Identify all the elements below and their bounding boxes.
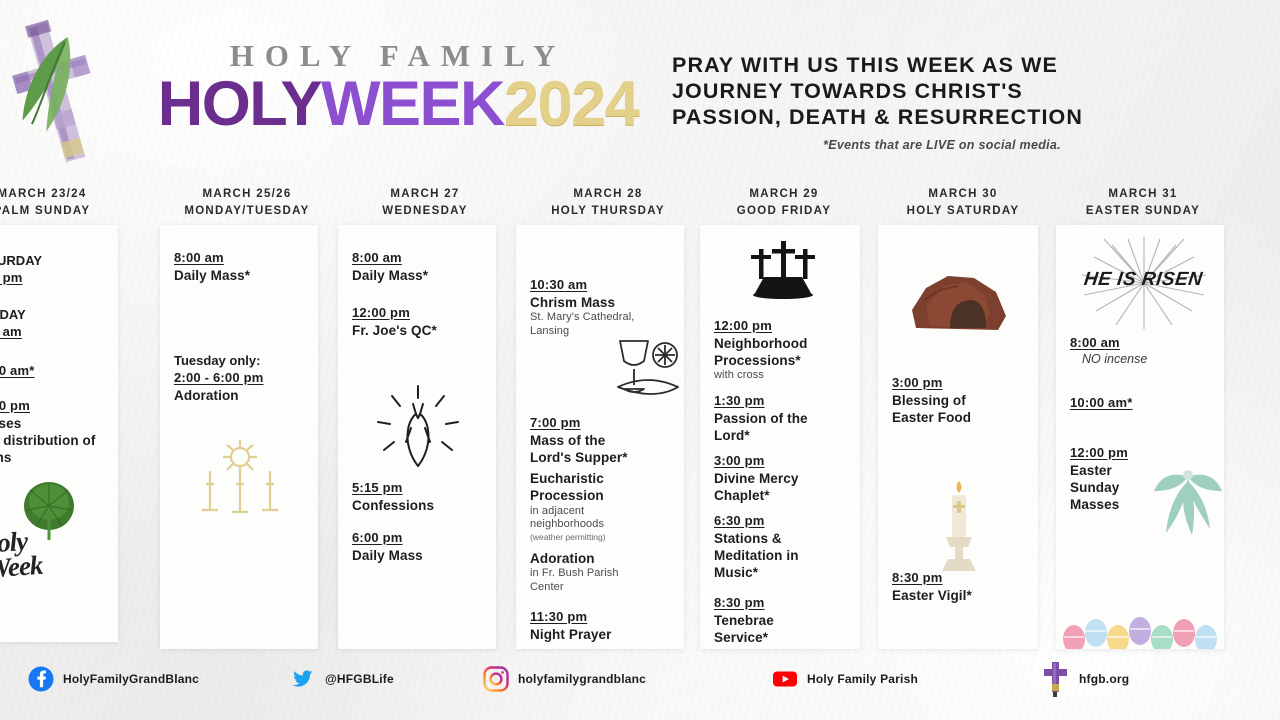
card-easter-sunday[interactable]: HE IS RISEN 8:00 am NO incense 10:00 am*… — [1056, 225, 1224, 649]
col-head-5: MARCH 30 HOLY SATURDAY — [880, 186, 1046, 219]
block-title: Chrism Mass — [530, 294, 676, 311]
block-title: Adoration — [530, 550, 676, 567]
block-title: Stations & Meditation in Music* — [714, 530, 836, 582]
col-date: MARCH 23/24 — [0, 186, 122, 203]
card-monday-tuesday[interactable]: 8:00 am Daily Mass* Tuesday only: 2:00 -… — [160, 225, 318, 649]
script-line-1: Holy — [0, 528, 41, 557]
poster-footer: HolyFamilyGrandBlanc @HFGBLife holyf — [0, 652, 1280, 720]
block-time: 8:30 pm — [892, 570, 1030, 587]
tomb-rock-icon — [910, 270, 1010, 340]
col-date: MARCH 27 — [345, 186, 505, 203]
facebook-icon[interactable] — [28, 666, 54, 692]
three-crosses-icon — [740, 237, 826, 309]
block-title: Adoration — [174, 387, 310, 404]
social-twitter[interactable]: @HFGBLife — [290, 666, 394, 692]
block-title: Daily Mass — [352, 547, 488, 564]
block-title: Daily Mass* — [352, 267, 488, 284]
cross-icon[interactable] — [1040, 660, 1070, 698]
block-title: Fr. Joe's QC* — [352, 322, 488, 339]
block-title: Daily Mass* — [174, 267, 310, 284]
block-time: 8:00 am — [174, 250, 310, 267]
block-time: 6:00 pm — [352, 530, 488, 547]
block-title: Tenebrae Service* — [714, 612, 824, 647]
title-week: WEEK — [321, 69, 504, 139]
social-youtube[interactable]: Holy Family Parish — [772, 666, 918, 692]
block-sub: in Fr. Bush Parish Center — [530, 567, 630, 595]
praying-hands-icon — [370, 380, 466, 472]
social-facebook[interactable]: HolyFamilyGrandBlanc — [28, 666, 199, 692]
block-title: Mass of the Lord's Supper* — [530, 432, 640, 467]
block-time: 8:30 pm — [714, 595, 852, 612]
youtube-icon[interactable] — [772, 666, 798, 692]
block-title: Passion of the Lord* — [714, 410, 839, 445]
col-date: MARCH 30 — [880, 186, 1046, 203]
block-title: Divine Mercy Chaplet* — [714, 470, 839, 505]
social-handle: hfgb.org — [1079, 672, 1129, 686]
tagline-block: PRAY WITH US THIS WEEK AS WE JOURNEY TOW… — [672, 52, 1212, 152]
palm-frond-icon — [16, 480, 82, 544]
col-day: PALM SUNDAY — [0, 203, 122, 220]
block-time: 10:00 am* — [1070, 395, 1216, 412]
poster-title: HOLYWEEK2024 — [138, 72, 658, 138]
block-sub: with cross — [714, 369, 852, 383]
block-title: Confessions — [352, 497, 488, 514]
col-date: MARCH 29 — [704, 186, 864, 203]
block-time: 4:00 pm — [0, 270, 110, 287]
col-date: MARCH 31 — [1060, 186, 1226, 203]
col-day: MONDAY/TUESDAY — [167, 203, 327, 220]
block-label-plain: Tuesday only: — [174, 353, 310, 370]
block-time: 8:00 am — [352, 250, 488, 267]
block-sub: with distribution of palms — [0, 432, 110, 467]
instagram-icon[interactable] — [483, 666, 509, 692]
block-time: 3:00 pm — [714, 453, 852, 470]
block-sub: St. Mary's Cathedral, Lansing — [530, 311, 635, 339]
col-date: MARCH 28 — [522, 186, 694, 203]
tagline-line-3: PASSION, DEATH & RESURRECTION — [672, 104, 1212, 130]
block-time: 12:00 pm — [714, 318, 852, 335]
block-time: 3:00 pm — [892, 375, 1030, 392]
col-day: HOLY THURSDAY — [522, 203, 694, 220]
social-handle: Holy Family Parish — [807, 672, 918, 686]
col-head-2: MARCH 27 WEDNESDAY — [345, 186, 505, 219]
card-wednesday[interactable]: 8:00 am Daily Mass* 12:00 pm Fr. Joe's Q… — [338, 225, 496, 649]
column-headers: MARCH 23/24 PALM SUNDAY MARCH 25/26 MOND… — [0, 186, 1280, 220]
block-time: 2:00 - 6:00 pm — [174, 370, 310, 387]
block-time: 12:00 pm — [0, 398, 110, 415]
block-title: Eucharistic Procession — [530, 470, 630, 505]
social-handle: holyfamilygrandblanc — [518, 672, 646, 686]
block-note: (weather permitting) — [530, 532, 676, 543]
block-time: 12:00 pm — [1070, 445, 1216, 462]
poster-header: HOLY FAMILY HOLYWEEK2024 PRAY WITH US TH… — [0, 0, 1280, 175]
holy-week-script-art: Holy Week — [0, 528, 43, 582]
col-day: WEDNESDAY — [345, 203, 505, 220]
card-holy-saturday[interactable]: 3:00 pm Blessing of Easter Food 8:30 pm … — [878, 225, 1038, 649]
block-title: Neighborhood Processions* — [714, 335, 836, 370]
live-events-note: *Events that are LIVE on social media. — [672, 138, 1212, 152]
col-head-4: MARCH 29 GOOD FRIDAY — [704, 186, 864, 219]
tagline-line-1: PRAY WITH US THIS WEEK AS WE — [672, 52, 1212, 78]
social-website[interactable]: hfgb.org — [1040, 660, 1129, 698]
script-line-2: Week — [0, 553, 43, 582]
col-head-0: MARCH 23/24 PALM SUNDAY — [0, 186, 122, 219]
block-time: 10:00 am* — [0, 363, 110, 380]
social-handle: HolyFamilyGrandBlanc — [63, 672, 199, 686]
block-note: NO incense — [1082, 352, 1216, 366]
candelabra-icon — [190, 440, 290, 520]
sunburst-rays-icon — [1074, 235, 1214, 331]
title-holy: HOLY — [158, 69, 321, 139]
holy-week-poster: HOLY FAMILY HOLYWEEK2024 PRAY WITH US TH… — [0, 0, 1280, 720]
title-year: 2024 — [504, 69, 638, 139]
block-title: Night Prayer — [530, 626, 676, 643]
block-title: Easter Vigil* — [892, 587, 1030, 604]
block-time: 11:30 pm — [530, 609, 676, 626]
col-day: GOOD FRIDAY — [704, 203, 864, 220]
card-palm-sunday[interactable]: SATURDAY 4:00 pm SUNDAY 8:00 am 10:00 am… — [0, 225, 118, 642]
block-label: SUNDAY — [0, 307, 110, 324]
col-head-1: MARCH 25/26 MONDAY/TUESDAY — [167, 186, 327, 219]
card-good-friday[interactable]: 12:00 pm Neighborhood Processions* with … — [700, 225, 860, 649]
col-head-3: MARCH 28 HOLY THURSDAY — [522, 186, 694, 219]
brand-block: HOLY FAMILY HOLYWEEK2024 — [138, 38, 658, 138]
block-time: 7:00 pm — [530, 415, 676, 432]
block-title: Masses — [0, 415, 110, 432]
block-sub: in adjacent neighborhoods — [530, 505, 640, 533]
block-title: Blessing of Easter Food — [892, 392, 1008, 427]
palm-cross-icon — [2, 16, 112, 166]
col-day: EASTER SUNDAY — [1060, 203, 1226, 220]
block-time: 12:00 pm — [352, 305, 488, 322]
chalice-host-icon — [608, 335, 684, 405]
twitter-icon[interactable] — [290, 666, 316, 692]
card-holy-thursday[interactable]: 10:30 am Chrism Mass St. Mary's Cathedra… — [516, 225, 684, 649]
block-time: 1:30 pm — [714, 393, 852, 410]
block-title: Easter Sunday Masses — [1070, 462, 1132, 514]
social-instagram[interactable]: holyfamilygrandblanc — [483, 666, 646, 692]
block-time: 5:15 pm — [352, 480, 488, 497]
block-time: 6:30 pm — [714, 513, 852, 530]
block-time: 10:30 am — [530, 277, 676, 294]
col-head-6: MARCH 31 EASTER SUNDAY — [1060, 186, 1226, 219]
block-label: SATURDAY — [0, 253, 110, 270]
col-date: MARCH 25/26 — [167, 186, 327, 203]
block-time: 8:00 am — [1070, 335, 1216, 352]
block-time: 8:00 am — [0, 324, 110, 341]
social-handle: @HFGBLife — [325, 672, 394, 686]
tagline-line-2: JOURNEY TOWARDS CHRIST'S — [672, 78, 1212, 104]
he-is-risen-text: HE IS RISEN — [1083, 269, 1204, 291]
paschal-candle-icon — [928, 475, 990, 575]
col-day: HOLY SATURDAY — [880, 203, 1046, 220]
schedule-cards: SATURDAY 4:00 pm SUNDAY 8:00 am 10:00 am… — [0, 222, 1280, 650]
easter-eggs-icon — [1058, 603, 1224, 649]
